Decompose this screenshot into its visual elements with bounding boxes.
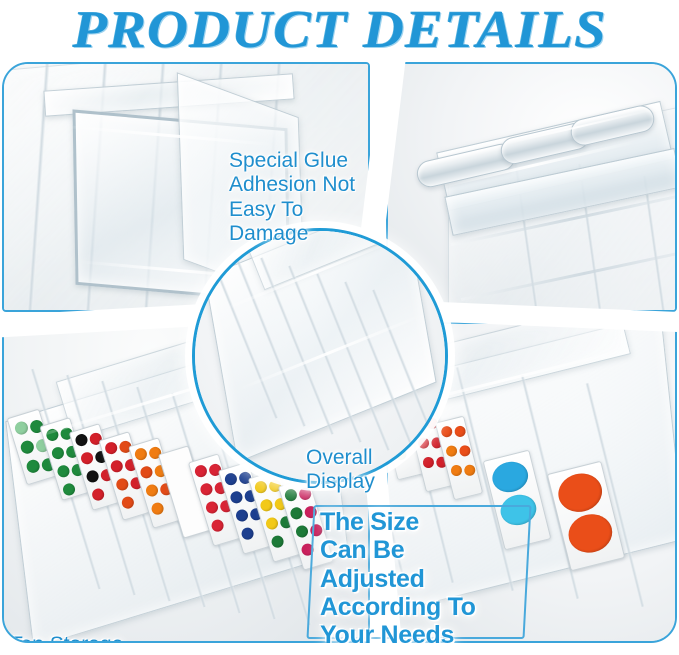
page-title-bar: PRODUCT DETAILS [0,0,679,60]
page-title: PRODUCT DETAILS [72,0,606,60]
overall-display-label: Overall Display [306,446,375,495]
adjustable-size-label: The Size Can Be Adjusted According To Yo… [320,508,476,649]
ten-storage-spaces-label: Ten Storage Spaces [10,633,123,643]
special-glue-label: Special Glue Adhesion Not Easy To Damage [229,149,355,246]
overall-display-photo [195,231,445,481]
infographic-canvas: PRODUCT DETAILS Special Glue Adhesion No… [0,0,679,645]
